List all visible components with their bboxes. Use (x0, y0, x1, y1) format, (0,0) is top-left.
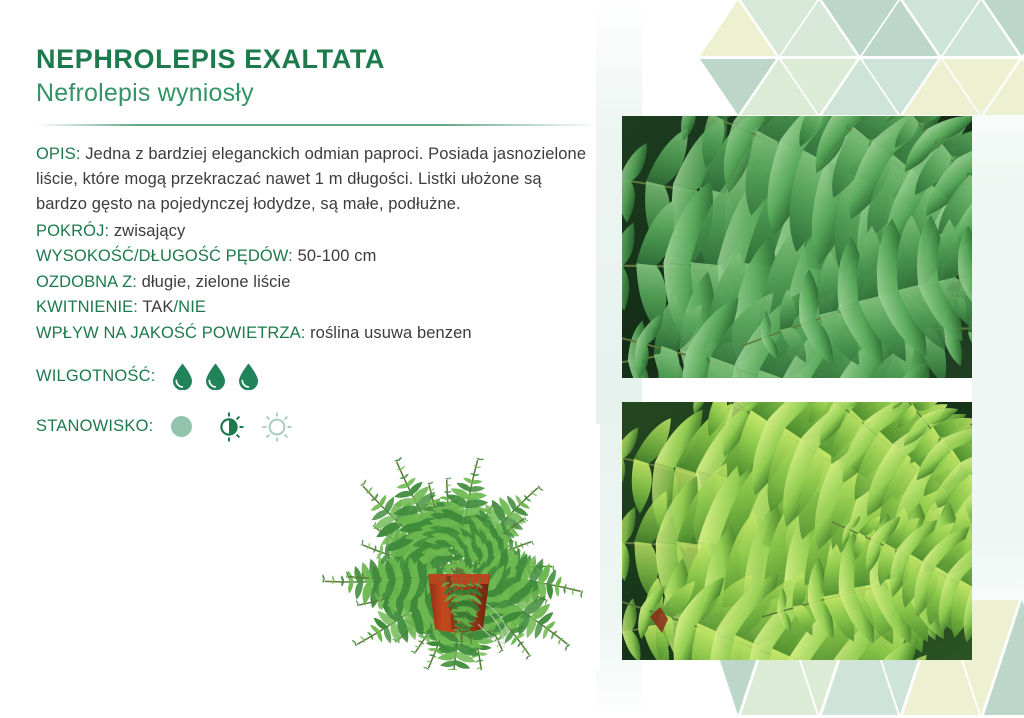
decorative-triangle (822, 0, 898, 56)
spec-label: KWITNIENIE: (36, 298, 138, 316)
description-paragraph: OPIS: Jedna z bardziej eleganckich odmia… (36, 142, 596, 217)
spec-value: 50-100 cm (298, 247, 377, 265)
spec-value: roślina usuwa benzen (310, 324, 472, 342)
decorative-triangle (741, 59, 817, 115)
spec-row-wysokosc: WYSOKOŚĆ/DŁUGOŚĆ PĘDÓW: 50-100 cm (36, 244, 596, 270)
description-text: Jedna z bardziej eleganckich odmian papr… (36, 145, 586, 213)
fern-fronds-light-green-photo (622, 402, 972, 660)
page-title: NEPHROLEPIS EXALTATA (36, 44, 596, 75)
spec-row-pokroj: POKRÓJ: zwisający (36, 219, 596, 245)
full-sun-icon (262, 412, 292, 442)
decorative-triangle (862, 0, 938, 56)
decorative-triangle (984, 0, 1024, 56)
water-drop-icon (238, 363, 259, 390)
humidity-icon-set (172, 363, 259, 390)
decorative-triangle (741, 0, 817, 56)
specification-list: POKRÓJ: zwisający WYSOKOŚĆ/DŁUGOŚĆ PĘDÓW… (36, 219, 596, 347)
spec-value: długie, zielone liście (142, 273, 291, 291)
fern-fronds-closeup-photo (622, 116, 972, 378)
spec-label: WYSOKOŚĆ/DŁUGOŚĆ PĘDÓW: (36, 247, 293, 265)
decorative-triangle (781, 0, 857, 56)
decorative-triangle (822, 59, 898, 115)
spec-label: WPŁYW NA JAKOŚĆ POWIETRZA: (36, 324, 305, 342)
position-icon-set (171, 412, 292, 442)
spec-row-kwitnienie: KWITNIENIE: TAK/NIE (36, 295, 596, 321)
decorative-triangle (862, 59, 938, 115)
spec-row-wplyw: WPŁYW NA JAKOŚĆ POWIETRZA: roślina usuwa… (36, 321, 596, 347)
decorative-triangle (903, 0, 979, 56)
spec-value-alt: /NIE (174, 298, 207, 316)
decorative-triangle (700, 0, 776, 56)
water-drop-icon (205, 363, 226, 390)
humidity-row: WILGOTNOŚĆ: (36, 363, 596, 390)
page-subtitle: Nefrolepis wyniosły (36, 77, 596, 110)
background-wash-right (972, 60, 1024, 660)
water-drop-icon (172, 363, 193, 390)
half-sun-icon (214, 412, 244, 442)
decorative-triangle (943, 0, 1019, 56)
decorative-triangle (700, 59, 776, 115)
description-label: OPIS: (36, 145, 81, 163)
spec-label: POKRÓJ: (36, 222, 109, 240)
plant-info-card: NEPHROLEPIS EXALTATA Nefrolepis wyniosły… (0, 0, 1024, 718)
spec-value: TAK (142, 298, 173, 316)
info-text-column: NEPHROLEPIS EXALTATA Nefrolepis wyniosły… (36, 44, 596, 442)
decorative-triangle (903, 59, 979, 115)
position-label: STANOWISKO: (36, 417, 153, 436)
humidity-label: WILGOTNOŚĆ: (36, 367, 156, 386)
decorative-triangle (781, 59, 857, 115)
spec-row-ozdobna: OZDOBNA Z: długie, zielone liście (36, 270, 596, 296)
title-divider (36, 124, 598, 126)
shade-circle-icon (171, 416, 192, 437)
potted-fern-photo (318, 424, 600, 670)
spec-label: OZDOBNA Z: (36, 273, 137, 291)
spec-value: zwisający (114, 222, 186, 240)
